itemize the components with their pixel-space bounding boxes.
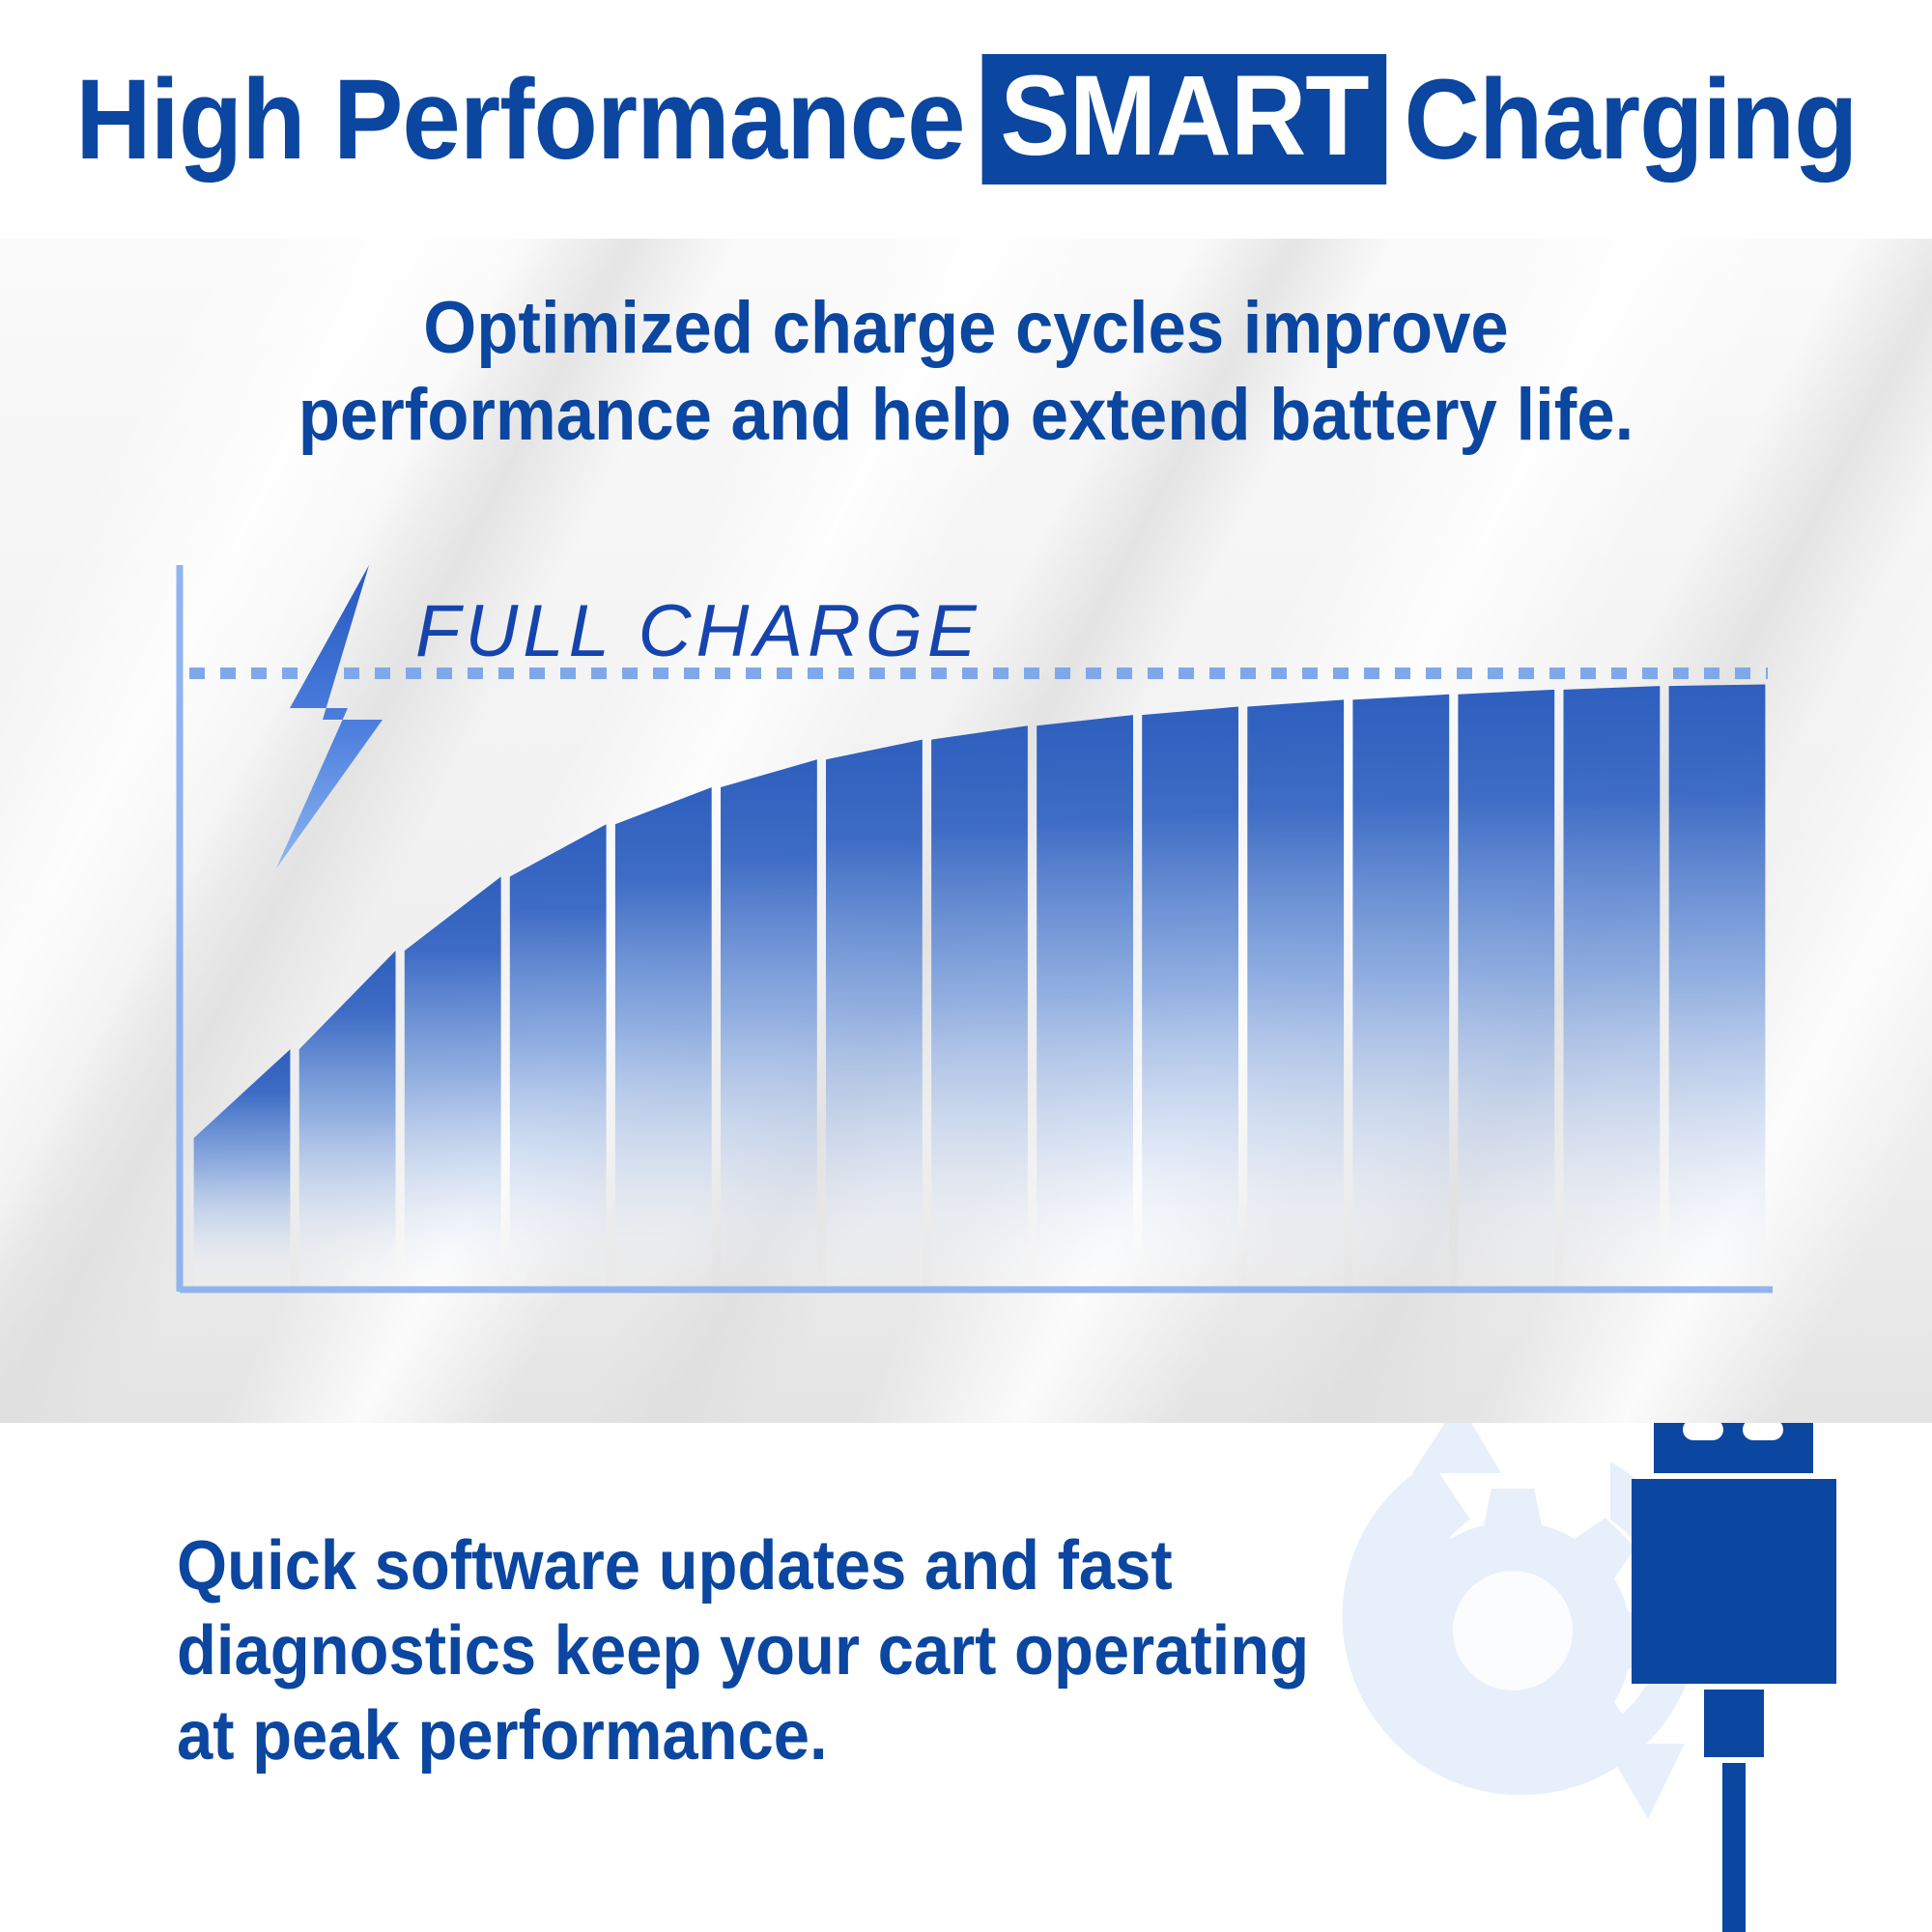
chart-bar <box>1142 707 1238 1291</box>
chart-bar <box>721 759 817 1290</box>
chart-bar <box>1247 699 1344 1290</box>
chart-bar <box>1564 686 1661 1290</box>
title-part-one: High Performance <box>73 63 966 177</box>
infographic-page: High Performance SMART Charging Optimize… <box>0 0 1932 1932</box>
smart-badge: SMART <box>982 54 1386 185</box>
page-title: High Performance SMART Charging <box>73 54 1859 185</box>
chart-bar <box>405 877 501 1291</box>
header-banner: High Performance SMART Charging <box>0 0 1932 239</box>
title-part-two: Charging <box>1402 63 1859 177</box>
bottom-panel: Quick software updates and fast diagnost… <box>0 1423 1932 1932</box>
chart-panel: Optimized charge cycles improve performa… <box>0 239 1932 1423</box>
update-diagnostics-icon-group <box>1209 1423 1905 1932</box>
lightning-bolt-icon <box>276 565 383 868</box>
chart-bar <box>931 725 1028 1290</box>
chart-bar <box>1352 695 1449 1290</box>
chart-bars <box>194 685 1766 1291</box>
chart-bar <box>194 1049 291 1290</box>
chart-bar <box>299 951 396 1290</box>
gear-icon <box>1361 1489 1664 1792</box>
chart-bar <box>615 787 712 1290</box>
middle-headline: Optimized charge cycles improve performa… <box>68 285 1864 458</box>
chart-bar <box>1458 690 1554 1290</box>
chart-bar <box>1037 715 1133 1290</box>
headline-line-2: performance and help extend battery life… <box>68 372 1864 459</box>
chart-bar <box>1669 685 1766 1291</box>
full-charge-label: FULL CHARGE <box>415 590 981 672</box>
usb-connector-icon <box>1632 1423 1836 1932</box>
chart-bar <box>510 824 607 1290</box>
headline-line-1: Optimized charge cycles improve <box>68 285 1864 372</box>
icon-svg <box>1209 1423 1905 1932</box>
chart-bar <box>826 740 923 1290</box>
